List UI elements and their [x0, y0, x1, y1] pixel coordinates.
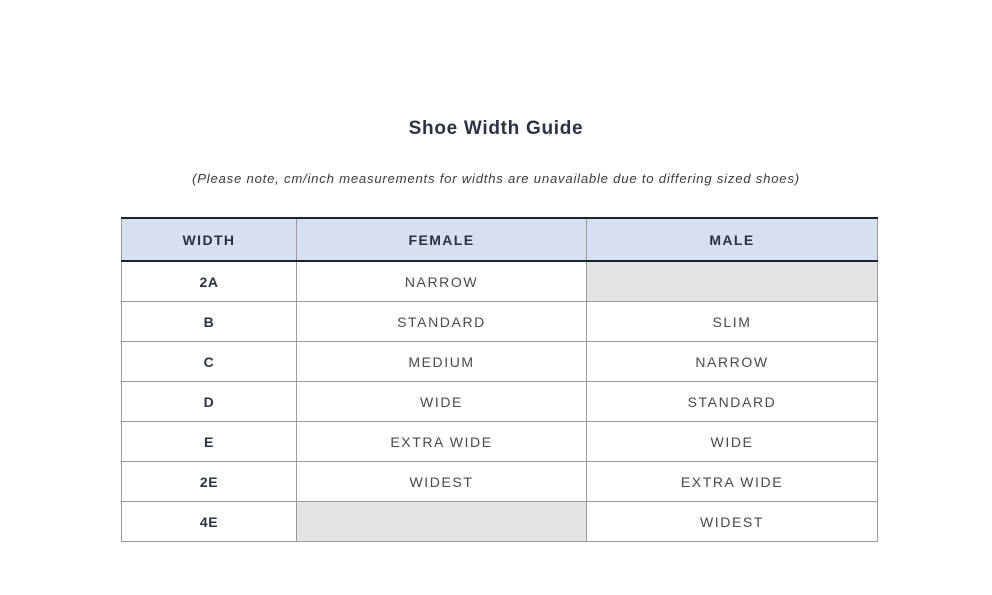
cell-male: WIDE — [587, 422, 878, 462]
cell-male: WIDEST — [587, 502, 878, 542]
cell-width: E — [122, 422, 297, 462]
table-row: DWIDESTANDARD — [122, 382, 878, 422]
cell-female: WIDE — [297, 382, 587, 422]
width-table-container: WIDTH FEMALE MALE 2ANARROWBSTANDARDSLIMC… — [121, 217, 877, 542]
cell-male: EXTRA WIDE — [587, 462, 878, 502]
table-row: BSTANDARDSLIM — [122, 302, 878, 342]
cell-width: B — [122, 302, 297, 342]
cell-male: NARROW — [587, 342, 878, 382]
cell-width: 2A — [122, 261, 297, 302]
table-row: EEXTRA WIDEWIDE — [122, 422, 878, 462]
cell-male: SLIM — [587, 302, 878, 342]
shoe-width-guide-page: Shoe Width Guide (Please note, cm/inch m… — [0, 0, 992, 595]
cell-female: MEDIUM — [297, 342, 587, 382]
table-row: CMEDIUMNARROW — [122, 342, 878, 382]
table-header: WIDTH FEMALE MALE — [122, 218, 878, 261]
cell-male: STANDARD — [587, 382, 878, 422]
cell-female-empty — [297, 502, 587, 542]
cell-width: 4E — [122, 502, 297, 542]
measurement-note: (Please note, cm/inch measurements for w… — [0, 171, 992, 186]
cell-male-empty — [587, 261, 878, 302]
table-row: 2ANARROW — [122, 261, 878, 302]
table-header-row: WIDTH FEMALE MALE — [122, 218, 878, 261]
cell-female: WIDEST — [297, 462, 587, 502]
cell-female: NARROW — [297, 261, 587, 302]
table-body: 2ANARROWBSTANDARDSLIMCMEDIUMNARROWDWIDES… — [122, 261, 878, 542]
table-row: 2EWIDESTEXTRA WIDE — [122, 462, 878, 502]
cell-female: STANDARD — [297, 302, 587, 342]
cell-width: 2E — [122, 462, 297, 502]
shoe-width-table: WIDTH FEMALE MALE 2ANARROWBSTANDARDSLIMC… — [121, 217, 878, 542]
page-title: Shoe Width Guide — [0, 118, 992, 140]
table-row: 4EWIDEST — [122, 502, 878, 542]
column-header-male: MALE — [587, 218, 878, 261]
cell-width: D — [122, 382, 297, 422]
cell-female: EXTRA WIDE — [297, 422, 587, 462]
column-header-width: WIDTH — [122, 218, 297, 261]
cell-width: C — [122, 342, 297, 382]
column-header-female: FEMALE — [297, 218, 587, 261]
